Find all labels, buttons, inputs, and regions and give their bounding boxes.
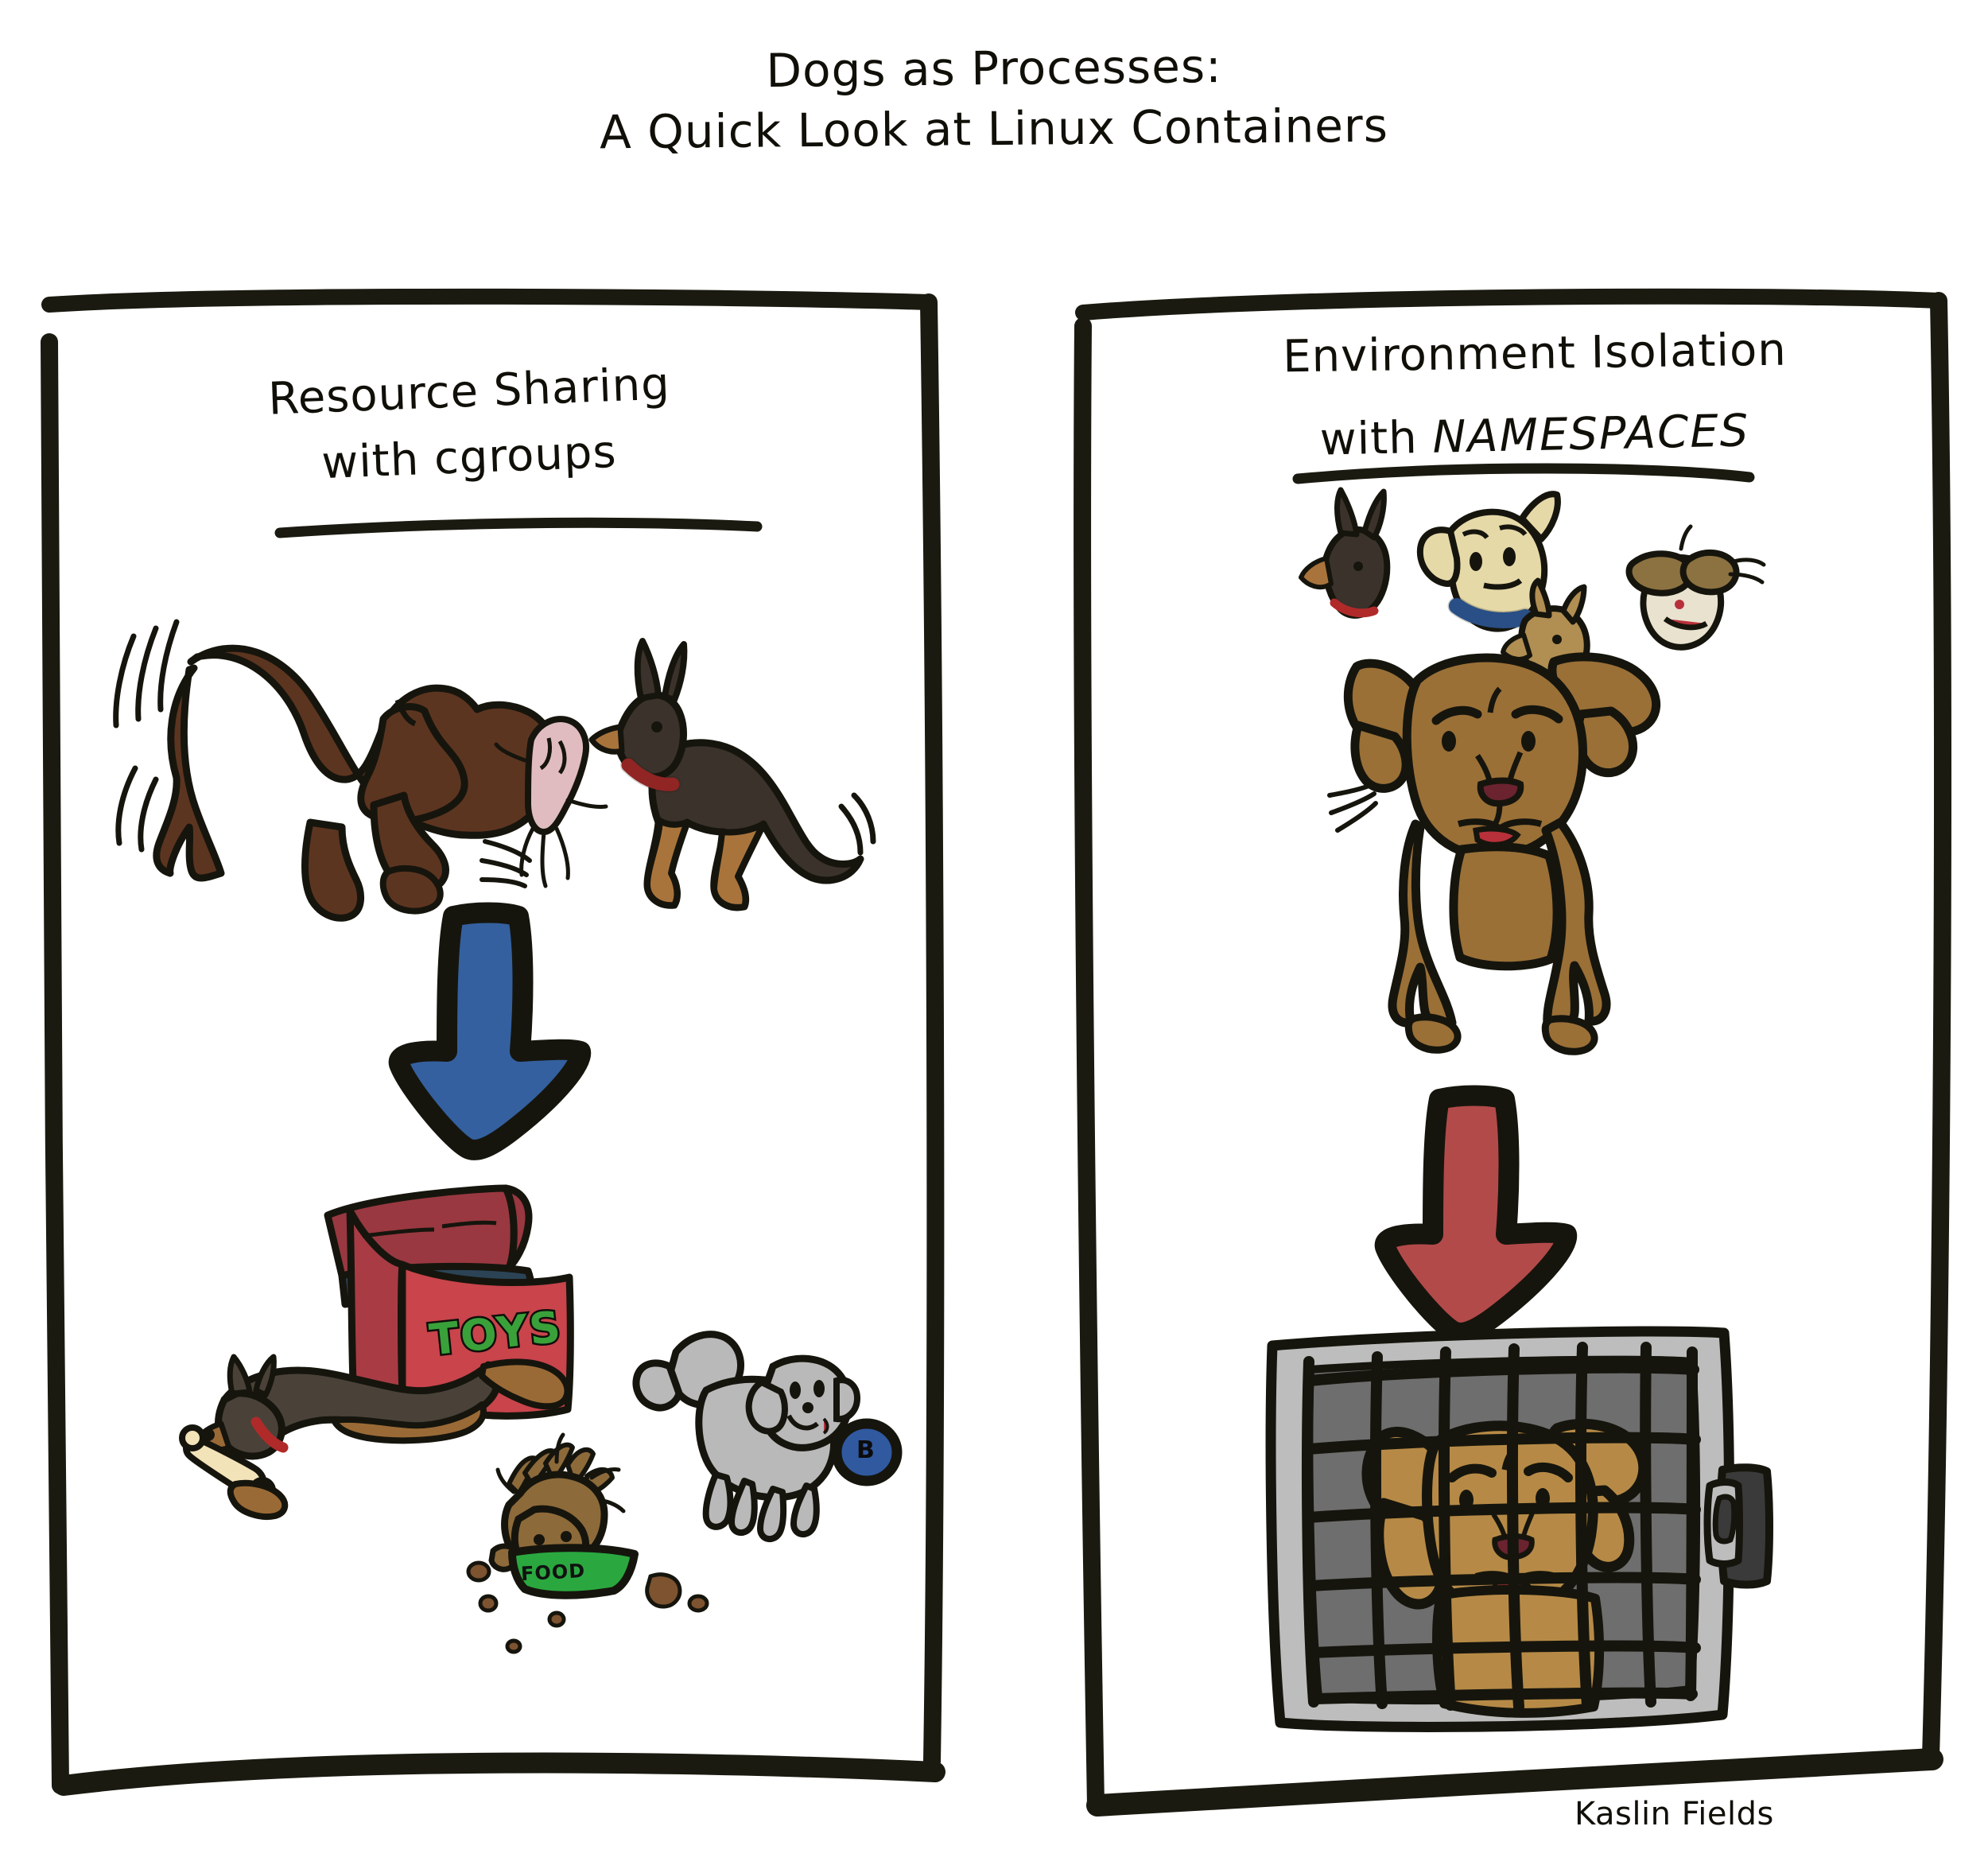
comic-root: Dogs as Processes: A Quick Look at Linux… [0, 0, 1988, 1869]
shaggy-dog-head [1629, 527, 1765, 647]
right-panel-heading-prefix: with [1319, 412, 1433, 466]
scene-floating-dog-heads [1301, 490, 1764, 1051]
right-panel-heading-namespaces: NAMESPACES [1432, 405, 1750, 463]
scene-dog-in-crate [1271, 1331, 1769, 1727]
big-brown-dog [1330, 657, 1656, 1051]
doberman-head-small [1301, 490, 1387, 616]
red-down-arrow [1385, 1096, 1567, 1333]
right-panel-heading-line1: Environment Isolation [1177, 323, 1893, 385]
blue-down-arrow [399, 913, 581, 1150]
blue-ball-label: B [856, 1436, 875, 1464]
brown-lab-body [157, 668, 221, 878]
right-heading-underline [1298, 468, 1749, 479]
dog-chewing-bone [182, 1357, 567, 1517]
gray-poodle [636, 1335, 857, 1539]
artist-signature: Kaslin Fields [1574, 1796, 1908, 1832]
comic-artwork [0, 0, 1988, 1869]
food-bowl-label: FOOD [520, 1560, 585, 1585]
scene-dogs-playing [116, 622, 873, 918]
scruffy-dog-eating [468, 1435, 707, 1652]
left-heading-underline [280, 523, 757, 533]
